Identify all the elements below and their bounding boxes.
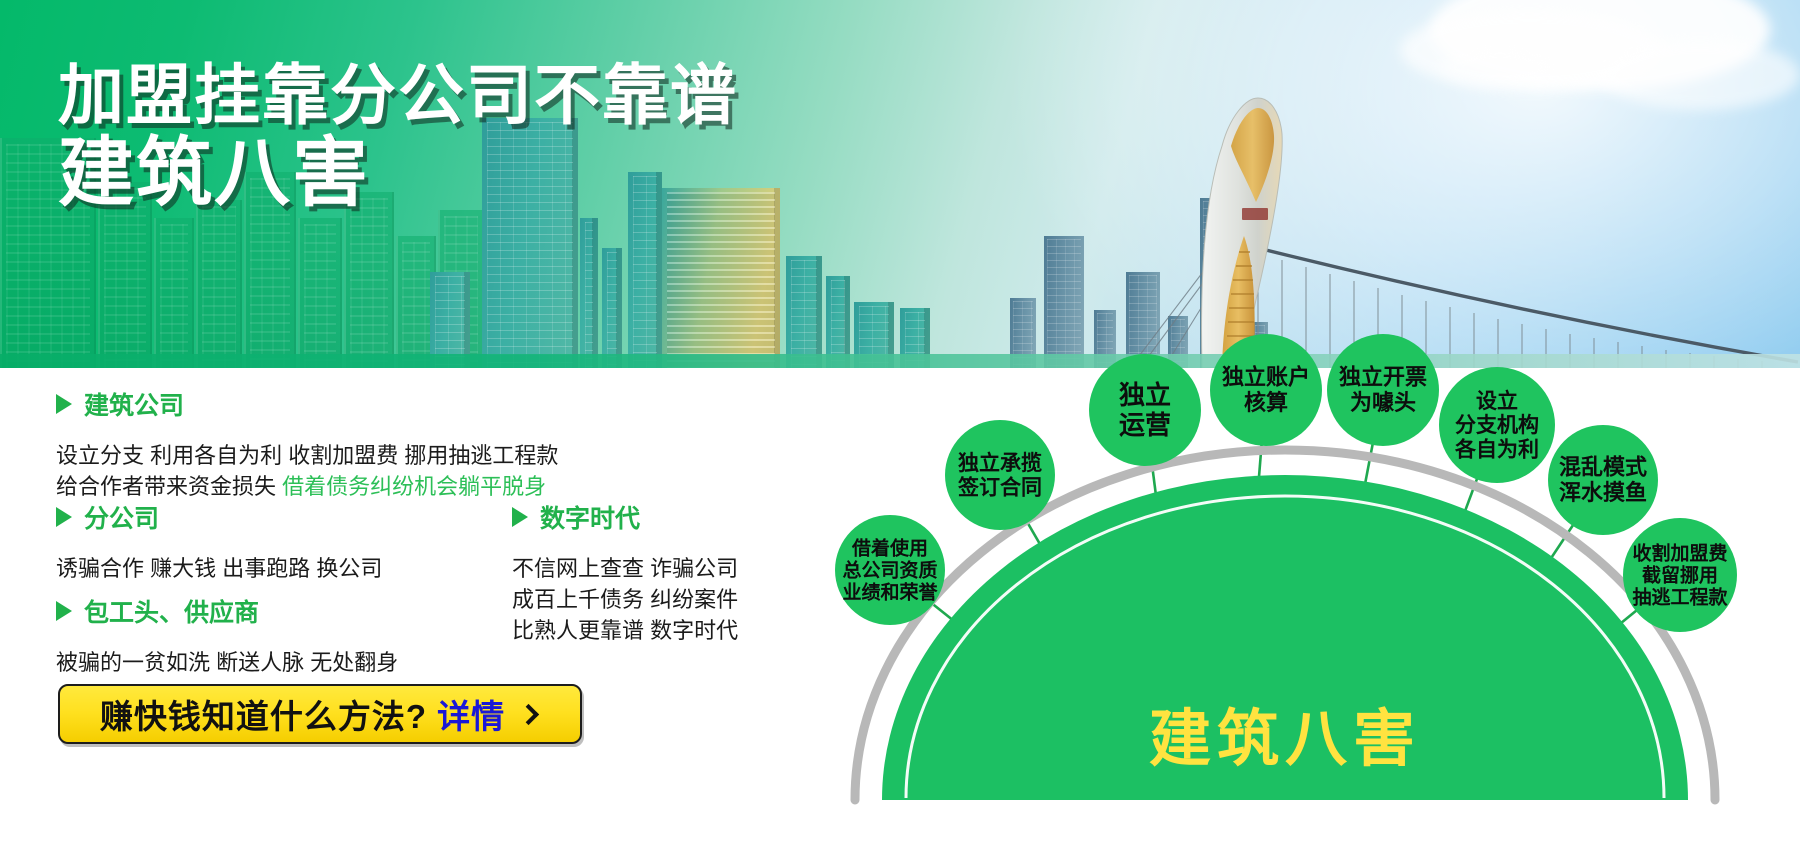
body-line: 诱骗合作 赚大钱 出事跑路 换公司: [56, 553, 382, 584]
infographic-poster: 加盟挂靠分公司不靠谱 建筑八害 建筑公司 设立分支 利用各自为利 收割加盟费 挪…: [0, 0, 1800, 844]
triangle-bullet-icon: [56, 507, 72, 527]
triangle-bullet-icon: [56, 601, 72, 621]
hero-banner: 加盟挂靠分公司不靠谱 建筑八害: [0, 0, 1800, 368]
section-construction-company: 建筑公司 设立分支 利用各自为利 收割加盟费 挪用抽逃工程款 给合作者带来资金损…: [56, 386, 558, 502]
cta-button[interactable]: 赚快钱知道什么方法? 详情: [58, 684, 582, 744]
body-line: 成百上千债务 纠纷案件: [512, 584, 738, 615]
body-text: 设立分支 利用各自为利 收割加盟费 挪用抽逃工程款: [56, 443, 558, 468]
bubble-b8[interactable]: 收割加盟费截留挪用抽逃工程款: [1623, 518, 1737, 632]
bridge-photo: [1130, 50, 1800, 368]
bubble-b6[interactable]: 设立分支机构各自为利: [1439, 367, 1555, 483]
section-contractor-supplier: 包工头、供应商 被骗的一贫如洗 断送人脉 无处翻身: [56, 593, 398, 678]
bubble-b5[interactable]: 独立开票为噱头: [1327, 334, 1439, 446]
bubble-b1[interactable]: 借着使用总公司资质业绩和荣誉: [835, 515, 945, 625]
section-header: 建筑公司: [56, 386, 558, 422]
body-line: 给合作者带来资金损失 借着债务纠纷机会躺平脱身: [56, 471, 558, 502]
cta-question: 赚快钱知道什么方法?: [100, 690, 427, 738]
section-branch-company: 分公司 诱骗合作 赚大钱 出事跑路 换公司: [56, 499, 382, 584]
bubble-b4[interactable]: 独立账户核算: [1210, 334, 1322, 446]
section-title: 包工头、供应商: [84, 593, 259, 629]
body-line: 比熟人更靠谱 数字时代: [512, 615, 738, 646]
section-header: 数字时代: [512, 499, 738, 535]
bubble-label: 收割加盟费截留挪用抽逃工程款: [1632, 541, 1728, 608]
bubble-label: 独立开票为噱头: [1339, 365, 1427, 416]
triangle-bullet-icon: [512, 507, 528, 527]
section-body: 设立分支 利用各自为利 收割加盟费 挪用抽逃工程款 给合作者带来资金损失 借着债…: [56, 440, 558, 502]
bubble-b2[interactable]: 独立承揽签订合同: [945, 420, 1055, 530]
section-title: 数字时代: [540, 499, 640, 535]
body-text-accent: 借着债务纠纷机会躺平脱身: [282, 474, 546, 499]
section-title: 建筑公司: [84, 386, 184, 422]
body-line: 不信网上查查 诈骗公司: [512, 553, 738, 584]
content-left-column: 建筑公司 设立分支 利用各自为利 收割加盟费 挪用抽逃工程款 给合作者带来资金损…: [0, 368, 800, 844]
cta-details-link[interactable]: 详情: [437, 690, 505, 738]
bubble-label: 借着使用总公司资质业绩和荣誉: [842, 536, 938, 603]
eight-harms-diagram: 借着使用总公司资质业绩和荣誉独立承揽签订合同独立运营独立账户核算独立开票为噱头设…: [800, 330, 1800, 844]
headline-line-2: 建筑八害: [58, 129, 738, 219]
headline-line-1: 加盟挂靠分公司不靠谱: [58, 62, 738, 129]
bubble-b7[interactable]: 混乱模式浑水摸鱼: [1548, 425, 1658, 535]
dome-label: 建筑八害: [1149, 705, 1421, 774]
body-line: 被骗的一贫如洗 断送人脉 无处翻身: [56, 647, 398, 678]
section-body: 被骗的一贫如洗 断送人脉 无处翻身: [56, 647, 398, 678]
body-line: 设立分支 利用各自为利 收割加盟费 挪用抽逃工程款: [56, 440, 558, 471]
bubble-circle: [945, 420, 1055, 530]
body-text: 给合作者带来资金损失: [56, 474, 282, 499]
triangle-bullet-icon: [56, 394, 72, 414]
chevron-right-icon: [518, 703, 539, 724]
section-body: 不信网上查查 诈骗公司 成百上千债务 纠纷案件 比熟人更靠谱 数字时代: [512, 553, 738, 647]
bubble-label: 独立运营: [1119, 380, 1171, 440]
section-header: 分公司: [56, 499, 382, 535]
page-title: 加盟挂靠分公司不靠谱 建筑八害: [58, 62, 738, 219]
bubble-label: 混乱模式浑水摸鱼: [1559, 455, 1647, 506]
section-body: 诱骗合作 赚大钱 出事跑路 换公司: [56, 553, 382, 584]
bubble-b3[interactable]: 独立运营: [1089, 354, 1201, 466]
section-header: 包工头、供应商: [56, 593, 398, 629]
section-title: 分公司: [84, 499, 159, 535]
section-digital-era: 数字时代 不信网上查查 诈骗公司 成百上千债务 纠纷案件 比熟人更靠谱 数字时代: [512, 499, 738, 647]
